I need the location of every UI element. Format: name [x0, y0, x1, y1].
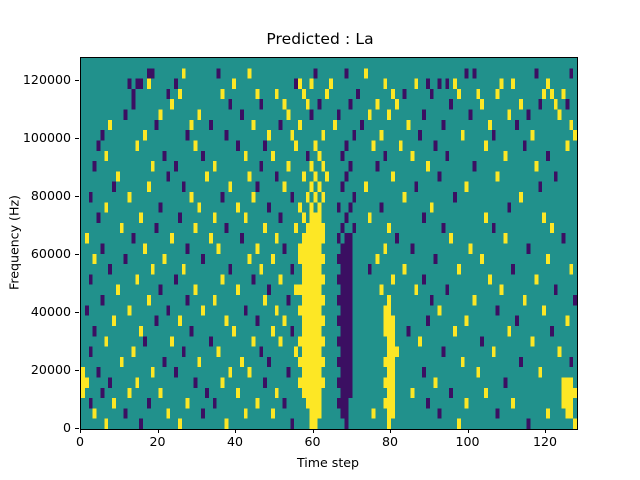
x-tick-label: 0	[50, 434, 110, 449]
heatmap-axes	[80, 57, 578, 430]
heatmap-image	[81, 58, 577, 429]
x-tick-mark	[313, 429, 314, 433]
x-tick-label: 120	[515, 434, 575, 449]
y-tick-mark	[75, 312, 79, 313]
figure-canvas: Predicted : La 0204060801001200200004000…	[0, 0, 640, 480]
x-tick-mark	[158, 429, 159, 433]
y-tick-mark	[75, 80, 79, 81]
x-tick-label: 40	[205, 434, 265, 449]
y-tick-label: 0	[3, 420, 71, 435]
x-tick-mark	[545, 429, 546, 433]
x-tick-mark	[390, 429, 391, 433]
x-tick-mark	[80, 429, 81, 433]
y-tick-label: 20000	[3, 362, 71, 377]
x-tick-label: 60	[283, 434, 343, 449]
y-tick-mark	[75, 370, 79, 371]
chart-title: Predicted : La	[0, 30, 640, 48]
y-tick-mark	[75, 254, 79, 255]
y-tick-mark	[75, 196, 79, 197]
y-tick-mark	[75, 428, 79, 429]
x-tick-mark	[468, 429, 469, 433]
x-tick-label: 20	[128, 434, 188, 449]
x-tick-mark	[235, 429, 236, 433]
x-tick-label: 80	[360, 434, 420, 449]
y-tick-mark	[75, 138, 79, 139]
y-axis-label: Frequency (Hz)	[7, 143, 22, 343]
x-axis-label: Time step	[80, 455, 576, 470]
y-tick-label: 120000	[3, 72, 71, 87]
x-tick-label: 100	[438, 434, 498, 449]
